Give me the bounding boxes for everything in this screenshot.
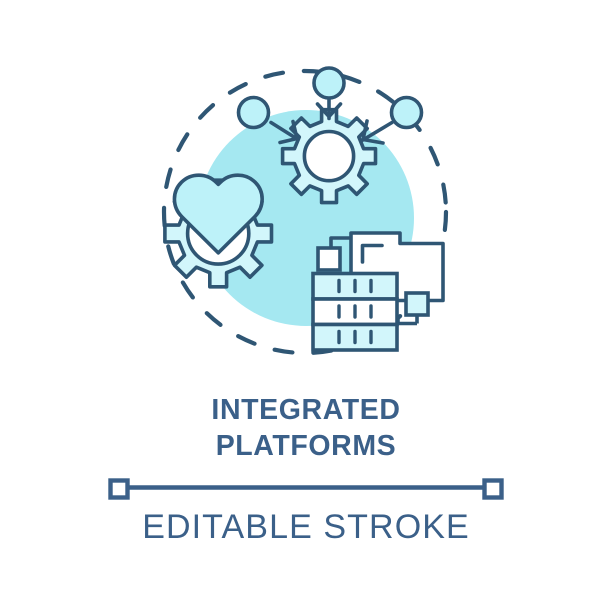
top-gear-hub bbox=[304, 132, 353, 181]
folder-right-square bbox=[406, 293, 428, 315]
node-right bbox=[362, 98, 422, 144]
concept-icon-card: INTEGRATED PLATFORMS EDITABLE STROKE bbox=[0, 0, 612, 612]
node-top-circle bbox=[314, 68, 344, 98]
heart-gear bbox=[165, 175, 272, 287]
footer: EDITABLE STROKE bbox=[0, 505, 612, 549]
divider-handle-left[interactable] bbox=[111, 481, 128, 498]
divider bbox=[0, 470, 612, 506]
integrated-platforms-illustration bbox=[0, 0, 612, 380]
page-title: INTEGRATED PLATFORMS bbox=[0, 392, 612, 464]
top-gear bbox=[283, 110, 376, 203]
footer-label: EDITABLE STROKE bbox=[0, 505, 612, 549]
folder-right-connector bbox=[398, 318, 417, 324]
folder-left-square bbox=[318, 248, 340, 270]
node-left-circle bbox=[239, 98, 269, 128]
node-right-circle bbox=[392, 98, 422, 128]
server-stack bbox=[313, 274, 397, 351]
title-line-2: PLATFORMS bbox=[0, 428, 612, 464]
title-line-1: INTEGRATED bbox=[0, 392, 612, 428]
divider-handle-right[interactable] bbox=[485, 481, 502, 498]
